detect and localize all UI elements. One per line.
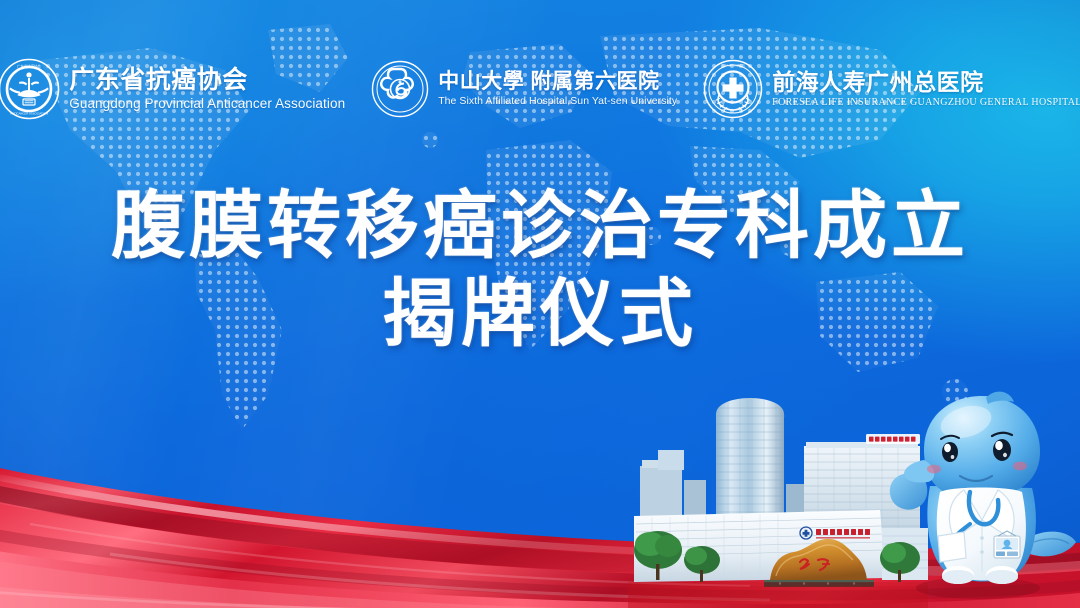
logo-name-cn: 前海人寿广州总医院	[772, 71, 1080, 94]
logo-name-en: FORESEA LIFE INSURANCE GUANGZHOU GENERAL…	[772, 98, 1080, 108]
title-line-1: 腹膜转移癌诊治专科成立	[0, 182, 1080, 270]
svg-text:ANTICANCER ASSOCIATION: ANTICANCER ASSOCIATION	[10, 112, 48, 116]
logo-name-en: Guangdong Provincial Anticancer Associat…	[69, 97, 345, 111]
medical-cross-wreath-emblem-icon: 前海人寿广州总医院	[703, 59, 763, 119]
logo-sixth-affiliated-hospital-sysu: 中山大學 附属第六医院 The Sixth Affiliated Hospita…	[360, 60, 688, 118]
logo-name-en: The Sixth Affiliated Hospital,Sun Yat-se…	[438, 96, 677, 107]
gdpaa-seal-emblem-icon: 广东省抗癌协会 ANTICANCER ASSOCIATION	[0, 58, 60, 120]
poster-title: 腹膜转移癌诊治专科成立 揭牌仪式	[0, 182, 1080, 358]
event-poster: 广东省抗癌协会 ANTICANCER ASSOCIATION 广东省抗癌协会 G…	[0, 0, 1080, 608]
svg-text:前海人寿广州总医院: 前海人寿广州总医院	[722, 64, 746, 68]
svg-text:广东省抗癌协会: 广东省抗癌协会	[17, 64, 41, 69]
logo-name-cn: 中山大學 附属第六医院	[438, 71, 677, 92]
logo-name-cn: 广东省抗癌协会	[69, 68, 345, 93]
sysu-sixth-hospital-emblem-icon	[371, 60, 429, 118]
dolphin-doctor-mascot	[878, 388, 1078, 600]
logo-guangdong-provincial-anticancer-association: 广东省抗癌协会 ANTICANCER ASSOCIATION 广东省抗癌协会 G…	[0, 58, 356, 120]
logo-foresea-life-guangzhou-general-hospital: 前海人寿广州总医院 前海人寿广州总医院 FORESEA LIFE INSURAN…	[692, 59, 1080, 119]
title-line-2: 揭牌仪式	[0, 270, 1080, 358]
organization-logo-bar: 广东省抗癌协会 ANTICANCER ASSOCIATION 广东省抗癌协会 G…	[0, 46, 1080, 132]
